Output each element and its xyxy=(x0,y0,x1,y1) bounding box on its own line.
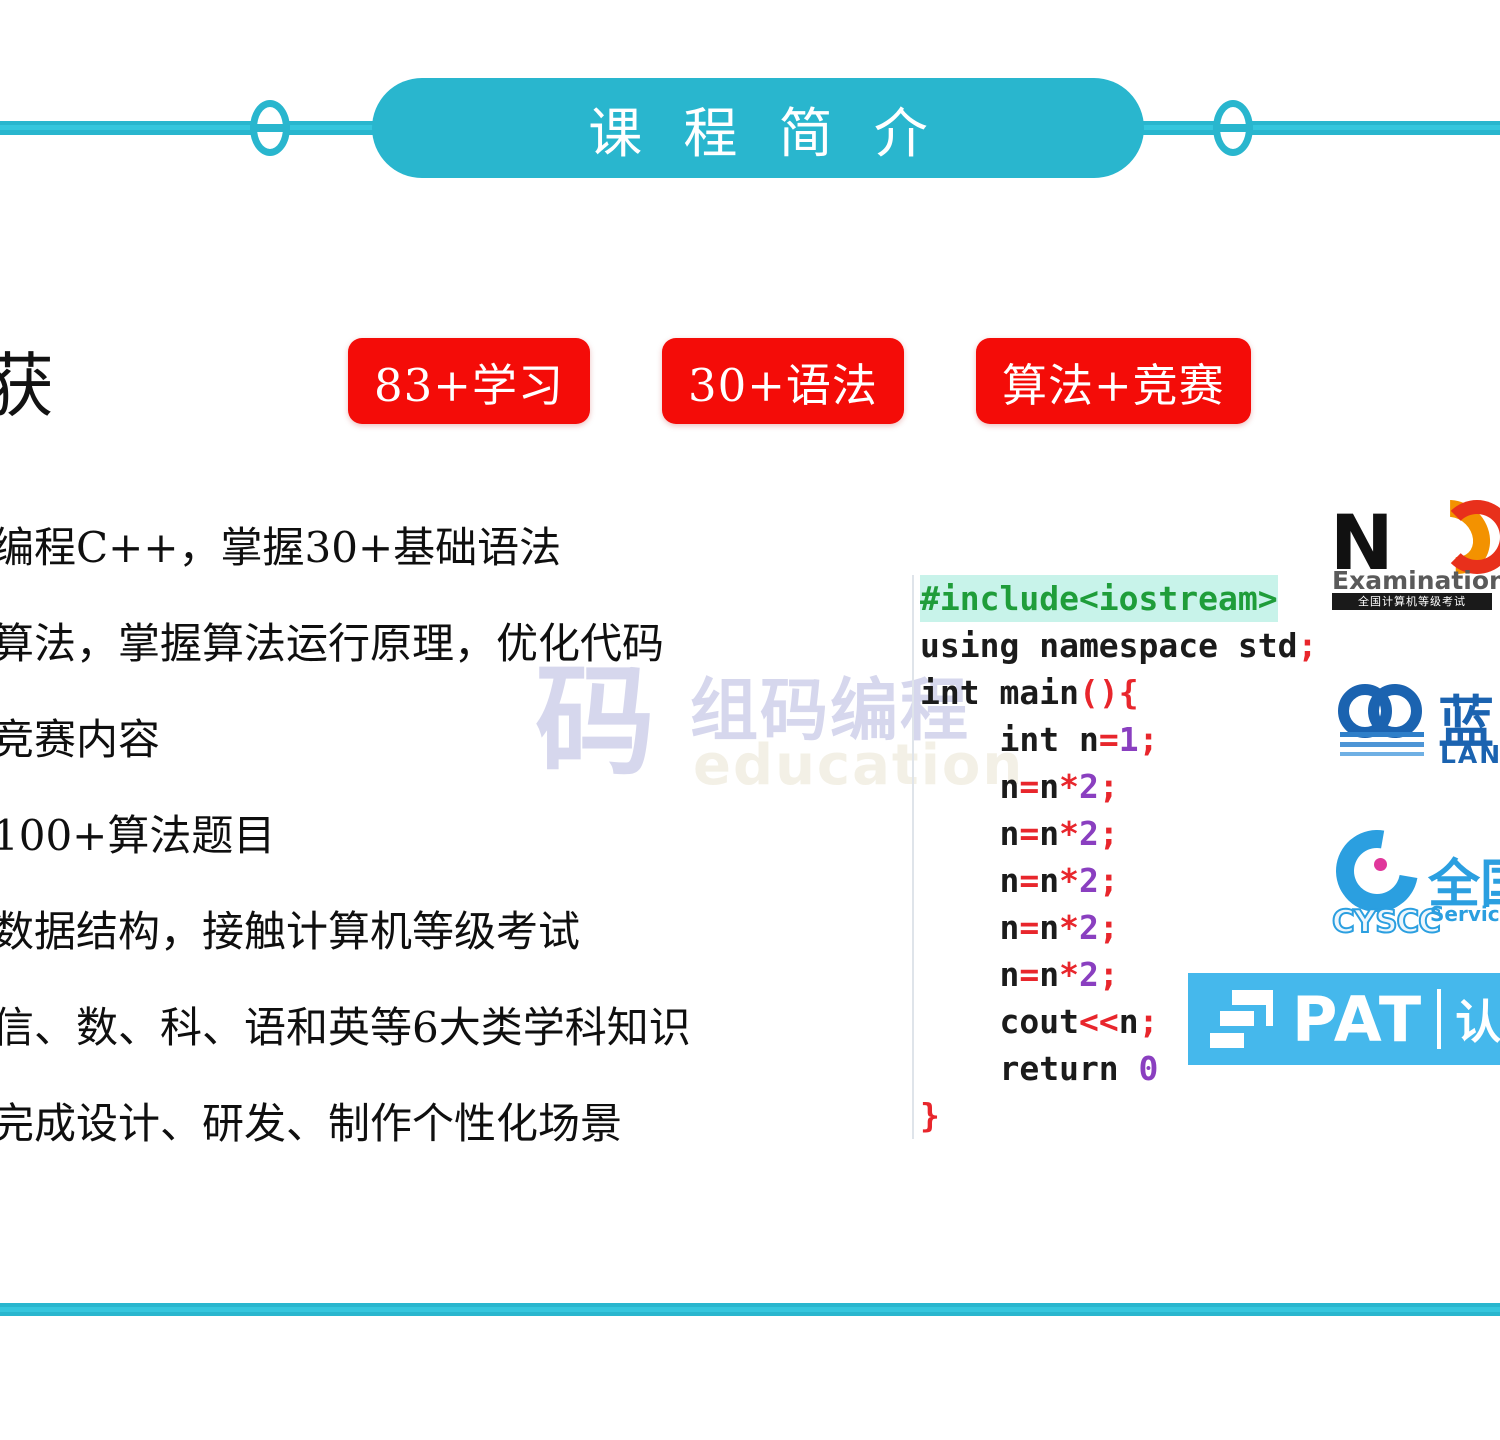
pat-divider xyxy=(1437,989,1441,1049)
header-title-pill: 课 程 简 介 xyxy=(372,78,1144,178)
badge-label: 算法+竞赛 xyxy=(1002,349,1225,414)
list-item: 学习竞赛内容 xyxy=(0,692,908,788)
code-line: n=n*2; xyxy=(920,810,1320,857)
code-line: n=n*2; xyxy=(920,857,1320,904)
badge-label: 30+语法 xyxy=(688,349,878,414)
cyscc-en: Service Platform xyxy=(1430,902,1500,926)
lanqiao-logo: 蓝 LANQ xyxy=(1338,678,1500,778)
ncre-cn-strip: 全国计算机等级考试 xyxy=(1332,593,1492,610)
circle-node-icon-left xyxy=(250,100,290,156)
ncre-logo: N ® Examination 全国计算机等级考试 xyxy=(1330,498,1500,610)
ncre-subtitle: Examination xyxy=(1332,566,1500,595)
footer-rule-line xyxy=(0,1303,1500,1316)
cyscc-dot-icon xyxy=(1374,858,1387,871)
badge-row: 83+学习 30+语法 算法+竞赛 xyxy=(348,338,1251,424)
pat-logo: PAT 认 xyxy=(1188,973,1500,1065)
code-line: using namespace std; xyxy=(920,622,1320,669)
code-line: int main(){ xyxy=(920,669,1320,716)
list-item: 融合信、数、科、语和英等6大类学科知识 xyxy=(0,980,908,1076)
pat-stack-icon xyxy=(1210,990,1280,1048)
circle-node-icon-right xyxy=(1213,100,1253,156)
list-item: 学习编程C++，掌握30+基础语法 xyxy=(0,500,908,596)
cyscc-logo: CYSCC 全国青 Service Platform xyxy=(1332,828,1500,940)
code-line: int n=1; xyxy=(920,716,1320,763)
list-item: 了解数据结构，接触计算机等级考试 xyxy=(0,884,908,980)
badge-item[interactable]: 30+语法 xyxy=(662,338,904,424)
list-item: 练习100+算法题目 xyxy=(0,788,908,884)
lanqiao-en: LANQ xyxy=(1440,740,1500,769)
learning-outcomes-list: 学习编程C++，掌握30+基础语法 学习算法，掌握算法运行原理，优化代码 学习竞… xyxy=(0,500,908,1172)
code-line: n=n*2; xyxy=(920,904,1320,951)
pat-wordmark: PAT xyxy=(1292,983,1423,1056)
code-line: } xyxy=(920,1092,1320,1139)
pat-cn: 认 xyxy=(1455,986,1500,1052)
lanqiao-mark-icon xyxy=(1338,684,1426,756)
list-item: 独立完成设计、研发、制作个性化场景 xyxy=(0,1076,908,1172)
badge-label: 83+学习 xyxy=(374,349,564,414)
list-item: 学习算法，掌握算法运行原理，优化代码 xyxy=(0,596,908,692)
page-title: 课 程 简 介 xyxy=(576,89,940,168)
badge-item[interactable]: 算法+竞赛 xyxy=(976,338,1251,424)
header-banner: 课 程 简 介 xyxy=(0,0,1500,230)
code-line: n=n*2; xyxy=(920,763,1320,810)
cyscc-tag: CYSCC xyxy=(1332,904,1440,940)
badge-item[interactable]: 83+学习 xyxy=(348,338,590,424)
section-title: 收获 xyxy=(0,330,56,431)
code-line: #include<iostream> xyxy=(920,575,1278,622)
